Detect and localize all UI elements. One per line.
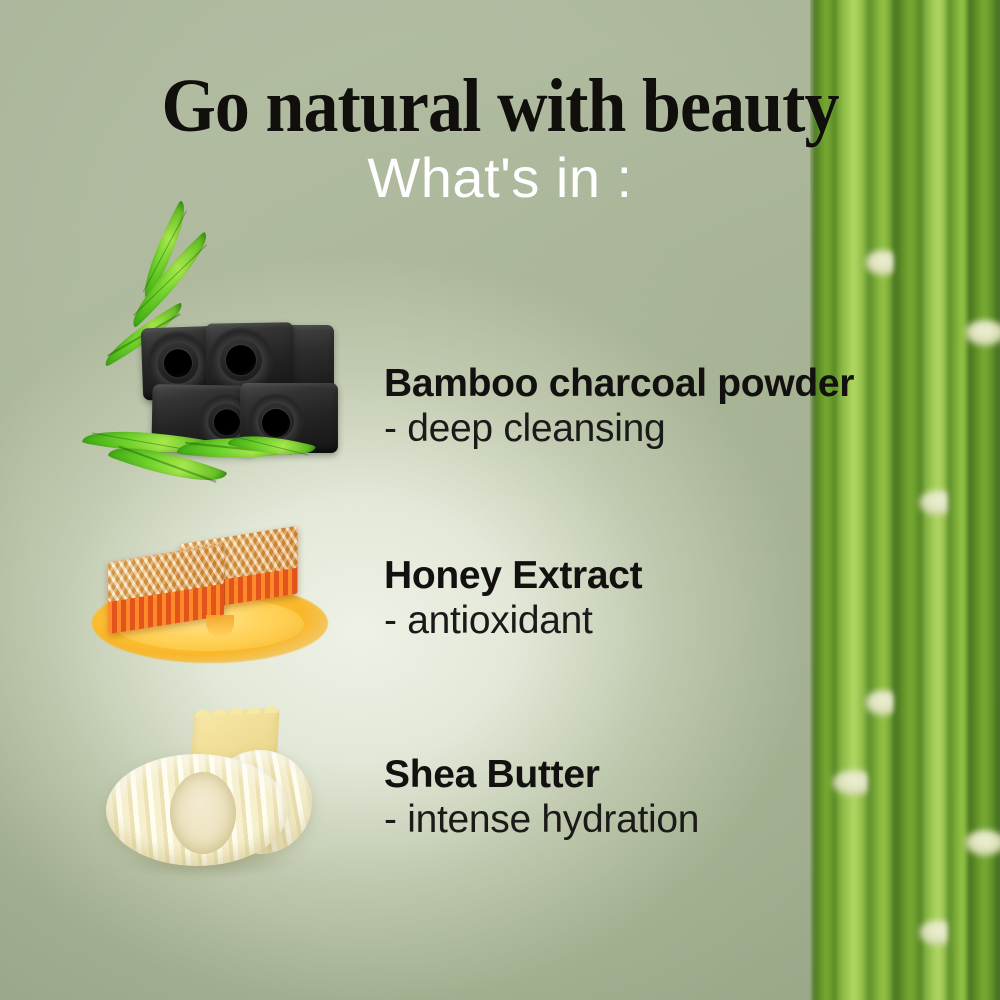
bamboo-node <box>965 320 1000 346</box>
page-subtitle: What's in : <box>0 150 1000 206</box>
butter-curl-opening <box>170 772 236 854</box>
ingredient-row: Honey Extract - antioxidant <box>60 505 940 690</box>
ingredient-benefit: - intense hydration <box>384 796 940 845</box>
charcoal-illustration <box>80 303 360 473</box>
ingredient-name: Shea Butter <box>384 755 940 796</box>
honey-extract-icon <box>60 505 380 690</box>
ingredient-name: Honey Extract <box>384 556 940 597</box>
bamboo-charcoal-icon <box>60 275 380 495</box>
butter-curl-illustration <box>100 710 330 875</box>
ingredient-row: Shea Butter - intense hydration <box>60 700 940 890</box>
shea-butter-icon <box>60 700 380 890</box>
ingredient-name: Bamboo charcoal powder <box>384 364 940 405</box>
ingredient-copy: Bamboo charcoal powder - deep cleansing <box>380 316 940 454</box>
bamboo-node <box>965 830 1000 856</box>
briquette-hole <box>262 409 290 437</box>
poster-canvas: Go natural with beauty What's in : <box>0 0 1000 1000</box>
honeycomb-top-face <box>108 544 224 602</box>
ingredient-row: Bamboo charcoal powder - deep cleansing <box>60 275 940 495</box>
page-title: Go natural with beauty <box>40 68 960 144</box>
ingredient-copy: Honey Extract - antioxidant <box>380 550 940 646</box>
ingredient-benefit: - antioxidant <box>384 597 940 646</box>
ingredient-benefit: - deep cleansing <box>384 405 940 454</box>
honeycomb-illustration <box>88 519 338 669</box>
ingredient-copy: Shea Butter - intense hydration <box>380 745 940 845</box>
